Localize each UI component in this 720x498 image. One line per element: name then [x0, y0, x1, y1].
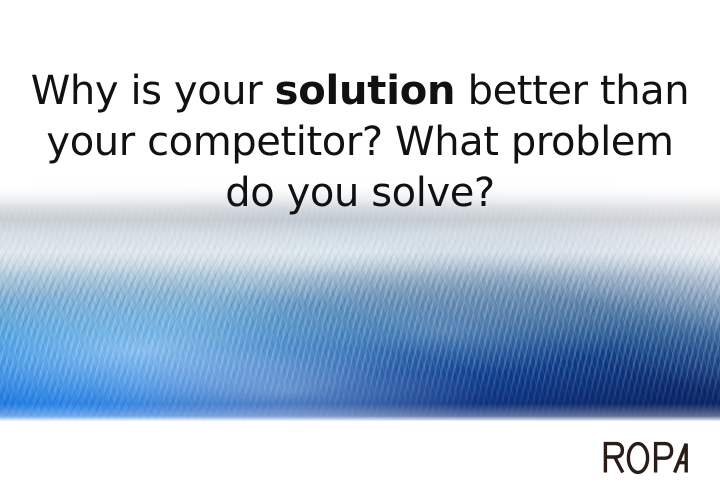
- ropa-logo: ROPA: [602, 441, 690, 475]
- headline-emphasis-solution: solution: [275, 68, 456, 114]
- headline-line-2: your competitor? What problem: [0, 117, 720, 168]
- headline-line1-suffix: better than: [455, 68, 689, 114]
- slide-canvas: Why is your solution better than your co…: [0, 0, 720, 498]
- headline-line1-prefix: Why is your: [31, 68, 275, 114]
- headline-line-3: do you solve?: [0, 168, 720, 219]
- headline-line-1: Why is your solution better than: [0, 66, 720, 117]
- headline-block: Why is your solution better than your co…: [0, 66, 720, 219]
